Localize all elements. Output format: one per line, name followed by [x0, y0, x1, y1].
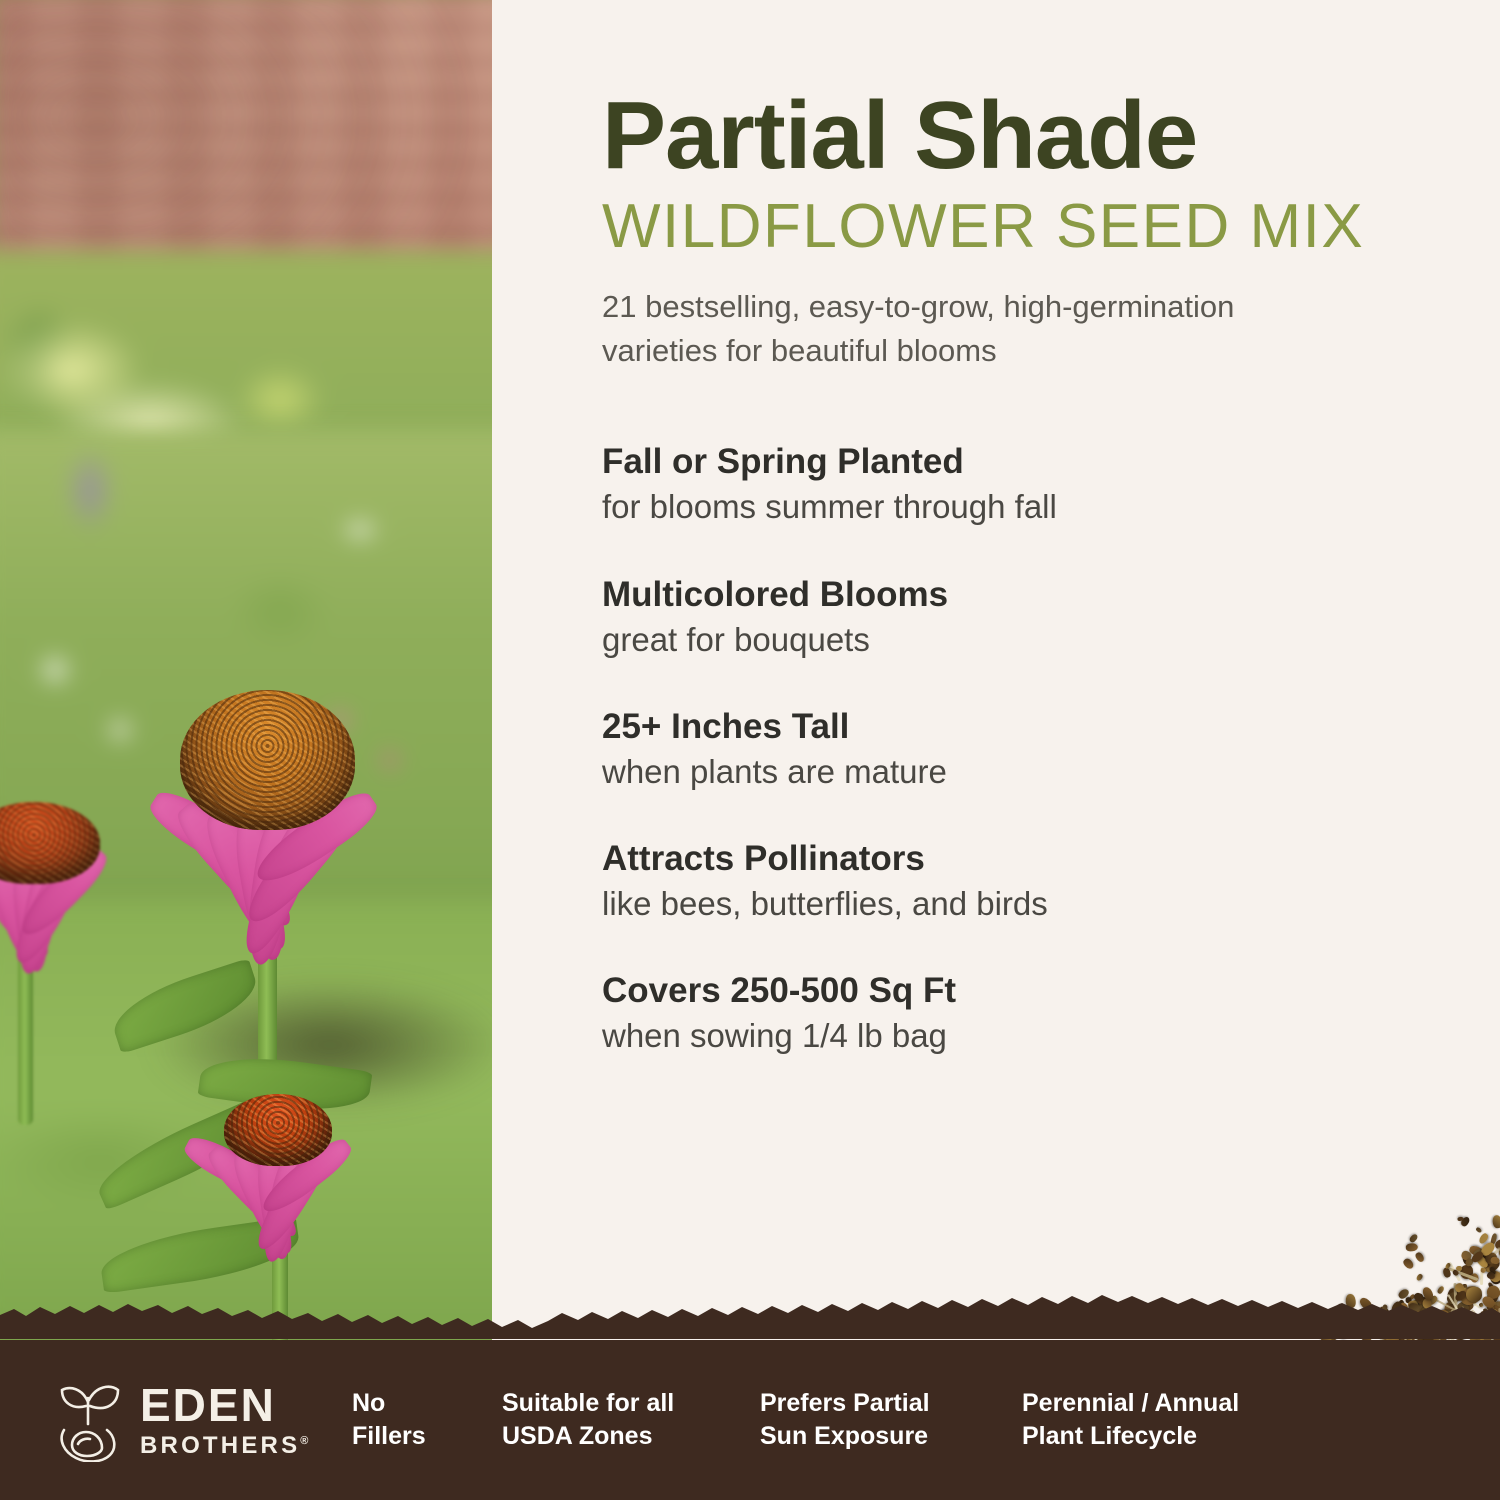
coneflower-main: [140, 650, 400, 910]
footer-attributes: No Fillers Suitable for all USDA Zones P…: [352, 1387, 1500, 1453]
logo-wordmark-primary: EDEN: [140, 1382, 308, 1428]
feature-subtitle: when sowing 1/4 lb bag: [602, 1015, 1500, 1056]
coneflower-left: [0, 760, 150, 960]
feature-subtitle: when plants are mature: [602, 751, 1500, 792]
page-subtitle: WILDFLOWER SEED MIX: [602, 192, 1500, 261]
feature-subtitle: great for bouquets: [602, 619, 1500, 660]
product-description: 21 bestselling, easy-to-grow, high-germi…: [602, 285, 1392, 373]
feature-item: Multicolored Blooms great for bouquets: [602, 574, 1500, 660]
torn-soil-edge: [0, 1293, 1500, 1339]
footer-bar: EDEN BROTHERS® No Fillers Suitable for a…: [0, 1340, 1500, 1500]
feature-title: Fall or Spring Planted: [602, 441, 1500, 483]
footer-attribute-zones: Suitable for all USDA Zones: [502, 1387, 760, 1453]
feature-list: Fall or Spring Planted for blooms summer…: [602, 441, 1500, 1056]
content-panel: Partial Shade WILDFLOWER SEED MIX 21 bes…: [492, 0, 1500, 1500]
feature-subtitle: for blooms summer through fall: [602, 486, 1500, 527]
footer: EDEN BROTHERS® No Fillers Suitable for a…: [0, 1325, 1500, 1500]
footer-attribute-sun-exposure: Prefers Partial Sun Exposure: [760, 1387, 1022, 1453]
coneflower-photo: [0, 0, 492, 1345]
eden-brothers-logo[interactable]: EDEN BROTHERS®: [52, 1378, 352, 1462]
logo-wordmark-secondary: BROTHERS®: [140, 1434, 308, 1458]
feature-item: Fall or Spring Planted for blooms summer…: [602, 441, 1500, 527]
description-line-2: varieties for beautiful blooms: [602, 329, 1392, 373]
feature-title: Covers 250-500 Sq Ft: [602, 970, 1500, 1012]
eden-brothers-sprout-logo: [52, 1378, 124, 1462]
feature-title: Attracts Pollinators: [602, 838, 1500, 880]
feature-subtitle: like bees, butterflies, and birds: [602, 883, 1500, 924]
registered-trademark-icon: ®: [300, 1435, 308, 1447]
page-title: Partial Shade: [602, 88, 1500, 184]
footer-attribute-fillers: No Fillers: [352, 1387, 502, 1453]
product-infographic: Partial Shade WILDFLOWER SEED MIX 21 bes…: [0, 0, 1500, 1500]
feature-item: Covers 250-500 Sq Ft when sowing 1/4 lb …: [602, 970, 1500, 1056]
feature-title: 25+ Inches Tall: [602, 706, 1500, 748]
footer-attribute-lifecycle: Perennial / Annual Plant Lifecycle: [1022, 1387, 1292, 1453]
coneflower-bottom: [180, 1070, 380, 1250]
feature-item: 25+ Inches Tall when plants are mature: [602, 706, 1500, 792]
feature-title: Multicolored Blooms: [602, 574, 1500, 616]
feature-item: Attracts Pollinators like bees, butterfl…: [602, 838, 1500, 924]
description-line-1: 21 bestselling, easy-to-grow, high-germi…: [602, 285, 1392, 329]
